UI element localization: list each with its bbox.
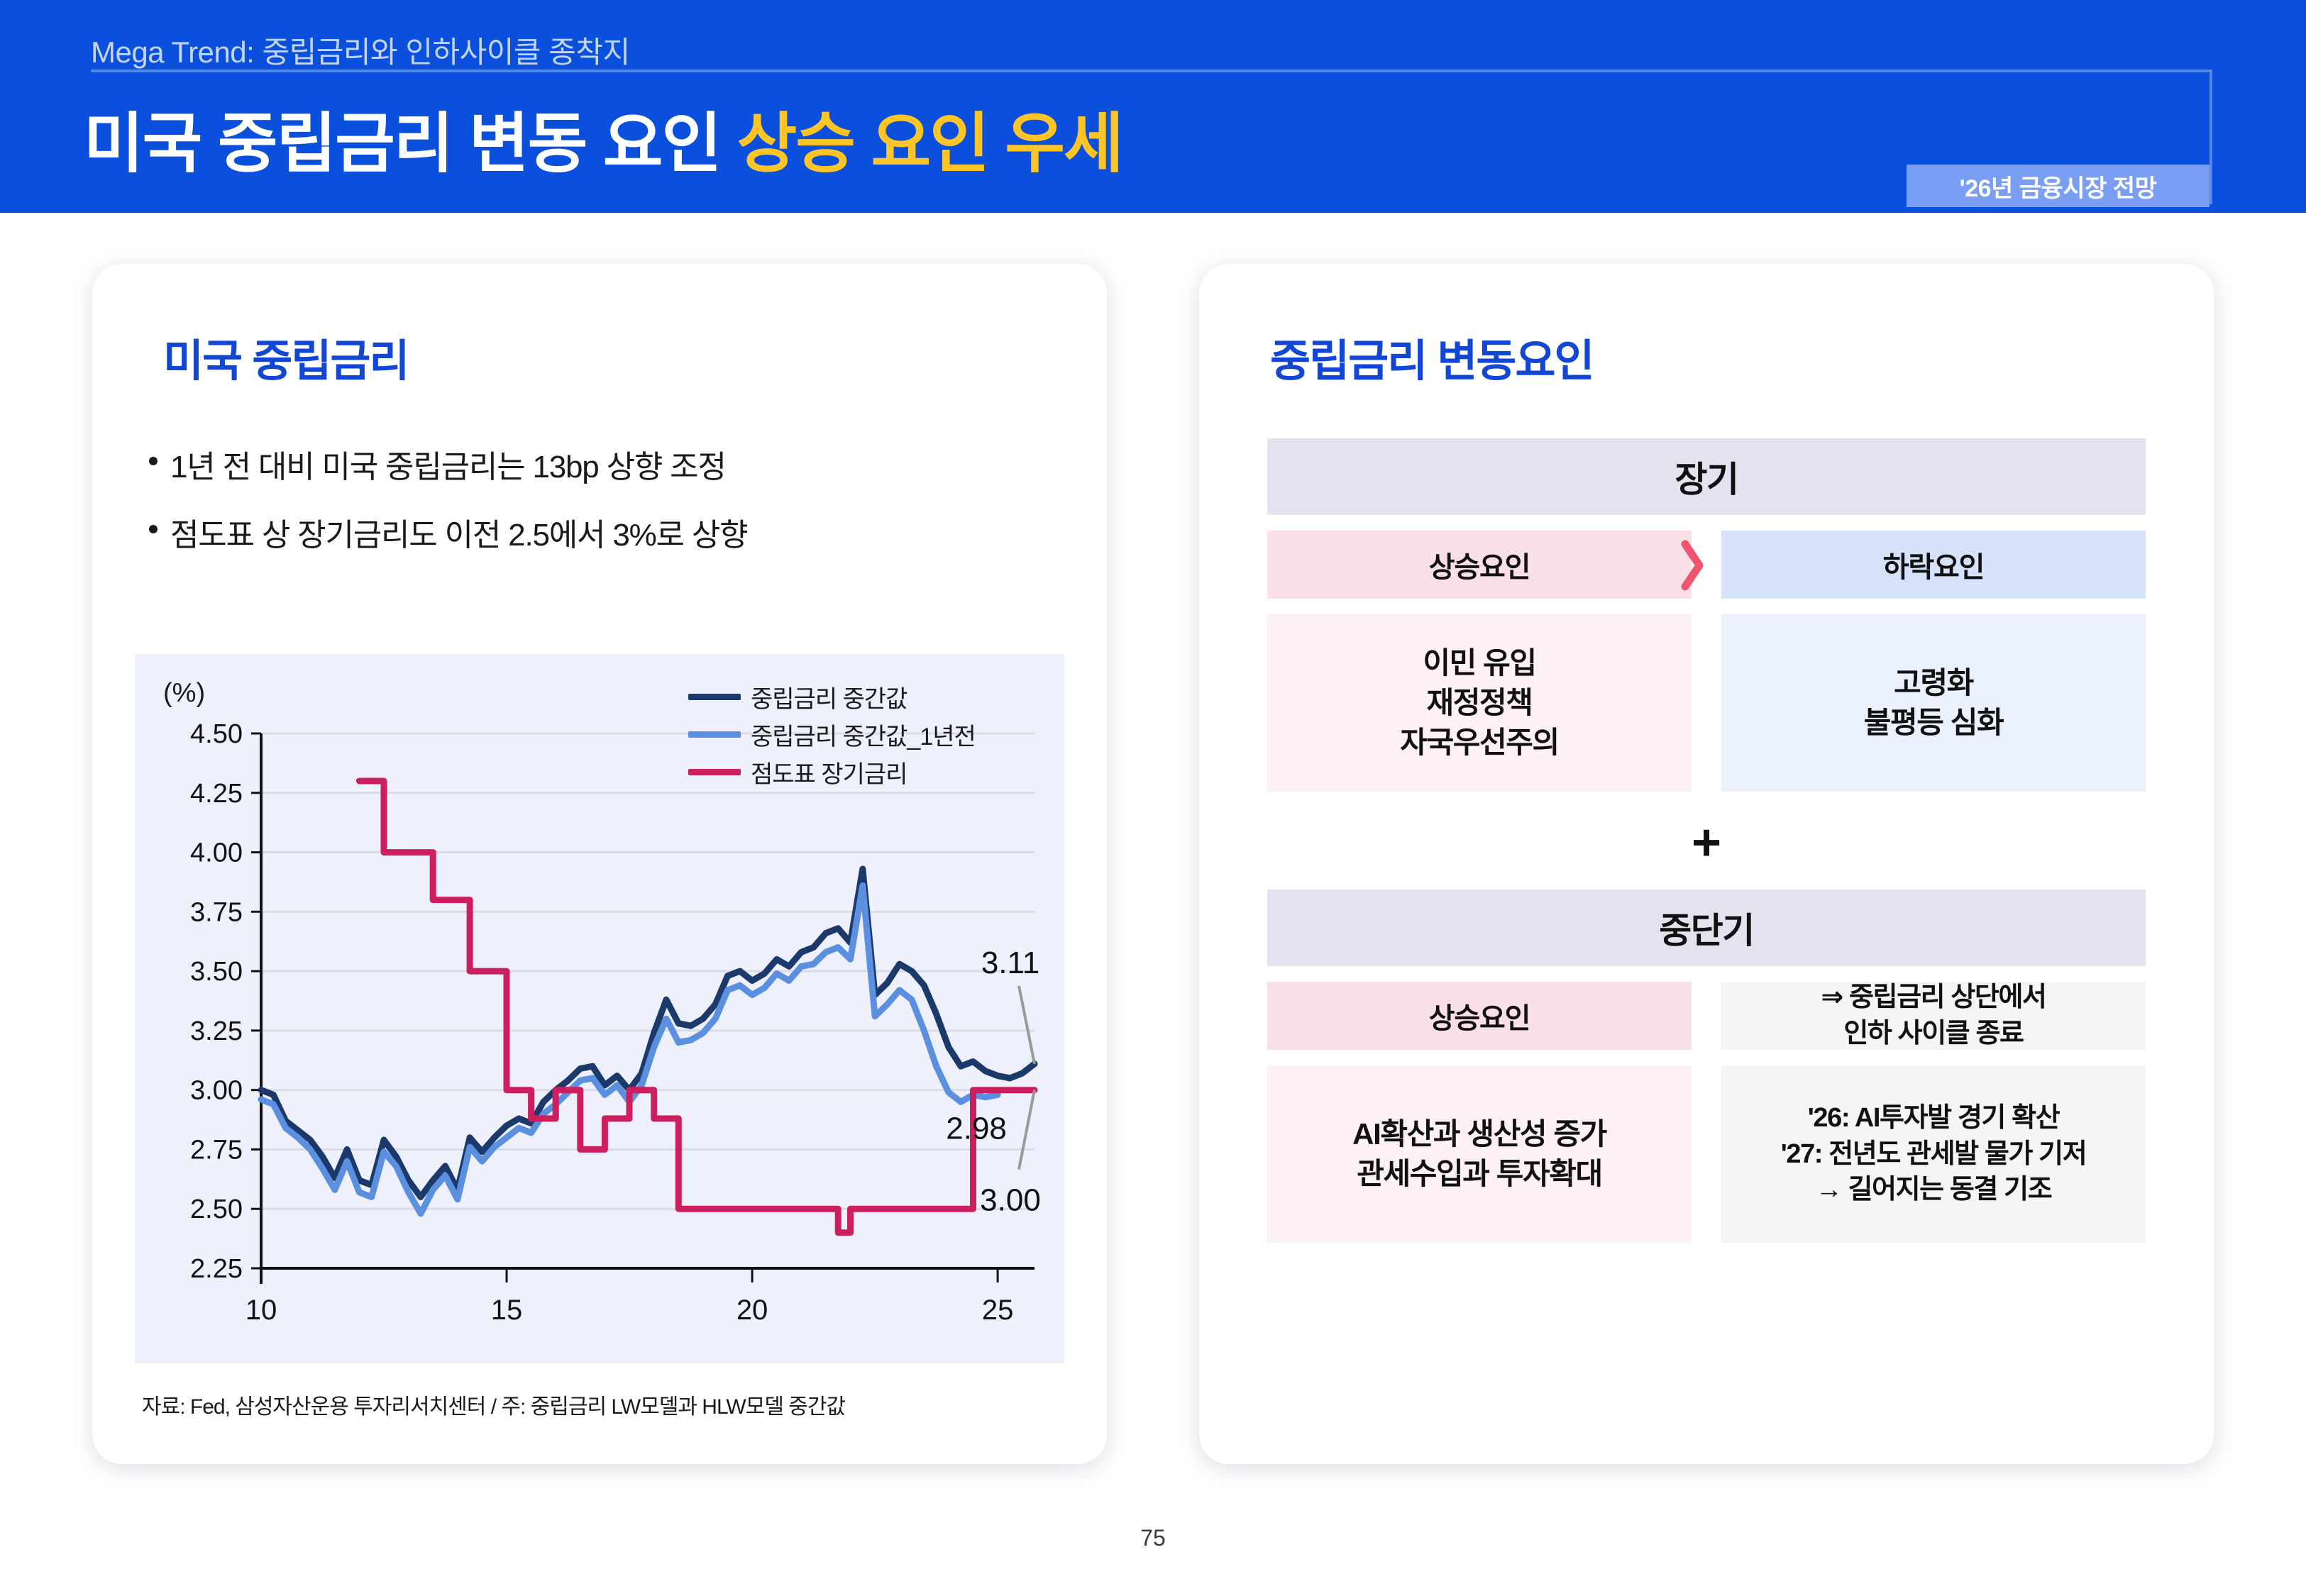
mid-short-term-band: 중단기 (1267, 890, 2146, 966)
legend-label: 중립금리 중간값 (751, 680, 907, 714)
page-number: 75 (0, 1525, 2306, 1551)
long-term-band: 장기 (1267, 438, 2146, 515)
neutral-rate-chart: (%) 2.252.502.753.003.253.503.754.004.25… (135, 654, 1064, 1363)
legend-swatch-magenta (688, 769, 741, 775)
annotation-3-00: 3.00 (980, 1183, 1041, 1218)
chart-legend: 중립금리 중간값 중립금리 중간값_1년전 점도표 장기금리 (688, 680, 976, 792)
left-card-title: 미국 중립금리 (163, 325, 408, 389)
note-bottom-line: '27: 전년도 관세발 물가 기저 (1781, 1136, 2087, 1173)
mid-short-term-note-top: ⇒ 중립금리 상단에서 인하 사이클 종료 (1721, 982, 2146, 1050)
slide-header: Mega Trend: 중립금리와 인하사이클 종착지 미국 중립금리 변동 요… (0, 0, 2306, 213)
long-term-down-body: 고령화 불평등 심화 (1721, 614, 2146, 792)
long-term-down-header: 하락요인 (1721, 531, 2146, 599)
long-term-up-line: 이민 유입 (1423, 643, 1535, 683)
header-rule-vertical (2210, 70, 2212, 204)
legend-item: 점도표 장기금리 (688, 755, 976, 789)
page-title-main: 미국 중립금리 변동 요인 (84, 108, 720, 180)
annotation-2-98: 2.98 (946, 1111, 1007, 1146)
bullet-dot-icon (149, 525, 158, 533)
x-tick-label: 15 (491, 1295, 523, 1326)
legend-item: 중립금리 중간값 (688, 680, 976, 714)
note-bottom-line: '26: AI투자발 경기 확산 (1808, 1100, 2060, 1136)
x-tick-label: 25 (982, 1295, 1014, 1326)
y-tick-label: 4.25 (190, 779, 243, 809)
long-term-up-line: 재정정책 (1427, 683, 1533, 723)
series-line (261, 869, 1035, 1197)
long-term-down-line: 고령화 (1894, 663, 1973, 703)
y-tick-label: 3.50 (190, 957, 243, 987)
bullet-item: 점도표 상 장기금리도 이전 2.5에서 3%로 상향 (149, 509, 1064, 555)
slide-root: Mega Trend: 중립금리와 인하사이클 종착지 미국 중립금리 변동 요… (0, 0, 2306, 1596)
long-term-header-row: 상승요인 하락요인 (1267, 531, 2146, 599)
x-tick-label: 10 (246, 1295, 277, 1326)
bullet-text: 1년 전 대비 미국 중립금리는 13bp 상향 조정 (170, 441, 726, 487)
y-tick-label: 4.00 (190, 838, 243, 868)
chevron-right-glyph (1680, 539, 1704, 592)
header-rule (91, 70, 2212, 72)
y-tick-label: 2.25 (190, 1254, 243, 1284)
legend-swatch-navy (688, 694, 741, 700)
note-bottom-line: → 길어지는 동결 기조 (1816, 1172, 2052, 1208)
header-kicker: Mega Trend: 중립금리와 인하사이클 종착지 (91, 28, 630, 72)
section-badge: '26년 금융시장 전망 (1907, 165, 2210, 207)
right-card-title: 중립금리 변동요인 (1270, 325, 1594, 389)
long-term-up-line: 자국우선주의 (1400, 723, 1558, 763)
annotation-3-11: 3.11 (981, 946, 1039, 980)
chart-source-note: 자료: Fed, 삼성자산운용 투자리서치센터 / 주: 중립금리 LW모델과 … (142, 1389, 845, 1420)
y-tick-label: 2.50 (190, 1195, 243, 1224)
left-card-bullets: 1년 전 대비 미국 중립금리는 13bp 상향 조정 점도표 상 장기금리도 … (149, 441, 1064, 577)
mid-short-up-line: 관세수입과 투자확대 (1357, 1154, 1601, 1194)
page-title-accent: 상승 요인 우세 (737, 108, 1122, 180)
bullet-text: 점도표 상 장기금리도 이전 2.5에서 3%로 상향 (170, 509, 747, 555)
x-tick-label: 20 (737, 1295, 768, 1326)
series-line (261, 886, 998, 1214)
page-title: 미국 중립금리 변동 요인 상승 요인 우세 (84, 91, 1122, 185)
factors-flow: 장기 상승요인 하락요인 이민 유입 재정정책 자국우선주의 (1267, 438, 2146, 1243)
mid-short-term-note-bottom: '26: AI투자발 경기 확산 '27: 전년도 관세발 물가 기저 → 길어… (1721, 1065, 2146, 1243)
y-tick-label: 3.25 (190, 1016, 243, 1046)
right-card: 중립금리 변동요인 장기 상승요인 하락요인 이민 유입 재정정책 (1199, 264, 2214, 1464)
connector-plus: + (1267, 817, 2146, 868)
legend-swatch-lightblue (688, 731, 741, 738)
long-term-down-line: 불평등 심화 (1864, 703, 2003, 743)
y-tick-label: 3.00 (190, 1076, 243, 1106)
legend-label: 중립금리 중간값_1년전 (751, 717, 976, 752)
left-card: 미국 중립금리 1년 전 대비 미국 중립금리는 13bp 상향 조정 점도표 … (92, 264, 1107, 1464)
note-top-line: ⇒ 중립금리 상단에서 (1821, 980, 2046, 1016)
y-tick-label: 3.75 (190, 897, 243, 927)
bullet-item: 1년 전 대비 미국 중립금리는 13bp 상향 조정 (149, 441, 1064, 487)
note-top-line: 인하 사이클 종료 (1843, 1016, 2023, 1052)
mid-short-term-up-body: AI확산과 생산성 증가 관세수입과 투자확대 (1267, 1065, 1692, 1243)
mid-short-term-body-row: AI확산과 생산성 증가 관세수입과 투자확대 '26: AI투자발 경기 확산… (1267, 1065, 2146, 1243)
legend-item: 중립금리 중간값_1년전 (688, 717, 976, 752)
y-tick-label: 4.50 (190, 719, 243, 749)
bullet-dot-icon (149, 457, 158, 465)
long-term-body-row: 이민 유입 재정정책 자국우선주의 고령화 불평등 심화 (1267, 614, 2146, 792)
legend-label: 점도표 장기금리 (751, 755, 907, 789)
long-term-up-header: 상승요인 (1267, 531, 1692, 599)
mid-short-up-line: AI확산과 생산성 증가 (1352, 1114, 1606, 1154)
mid-short-term-header-row: 상승요인 ⇒ 중립금리 상단에서 인하 사이클 종료 (1267, 982, 2146, 1050)
long-term-up-body: 이민 유입 재정정책 자국우선주의 (1267, 614, 1692, 792)
mid-short-term-up-header: 상승요인 (1267, 982, 1692, 1050)
y-tick-label: 2.75 (190, 1135, 243, 1165)
chevron-right-icon (1677, 535, 1707, 596)
